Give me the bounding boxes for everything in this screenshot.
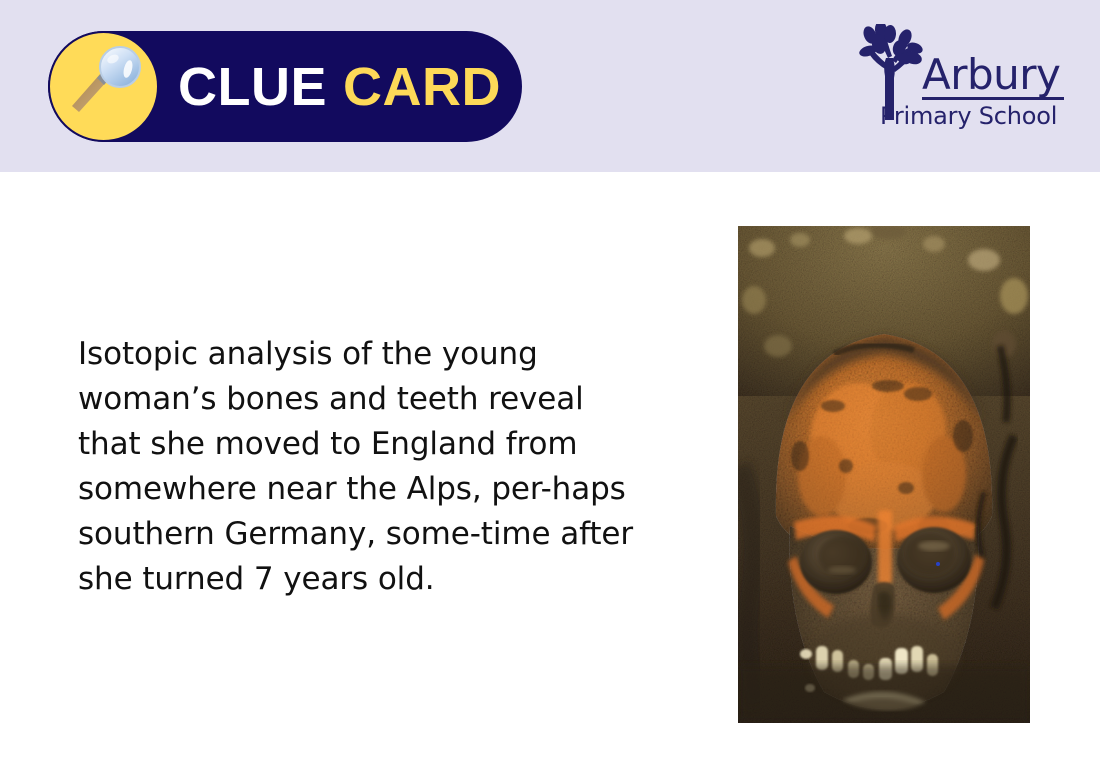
logo-wordmark: Arbury Primary School: [922, 54, 1066, 130]
clue-text-block: Isotopic analysis of the young woman’s b…: [78, 332, 658, 602]
clue-text-line: Isotopic analysis of the young: [78, 332, 658, 377]
magnifying-glass-icon: [48, 31, 159, 142]
clue-text-line: somewhere near the Alps, per-haps: [78, 467, 658, 512]
clue-text-line: woman’s bones and teeth reveal: [78, 377, 658, 422]
badge-word-clue: CLUE: [178, 56, 327, 118]
clue-text-line: she turned 7 years old.: [78, 557, 658, 602]
school-logo: Arbury Primary School: [852, 24, 1066, 146]
logo-subtitle: Primary School: [880, 102, 1066, 130]
badge-title: CLUE CARD: [178, 31, 501, 142]
clue-text-line: that she moved to England from: [78, 422, 658, 467]
archaeological-skull-photo: [738, 226, 1030, 723]
logo-name: Arbury: [922, 54, 1066, 95]
clue-card-badge: CLUE CARD: [48, 31, 522, 142]
badge-word-card: CARD: [343, 56, 501, 118]
clue-text-line: southern Germany, some-time after: [78, 512, 658, 557]
